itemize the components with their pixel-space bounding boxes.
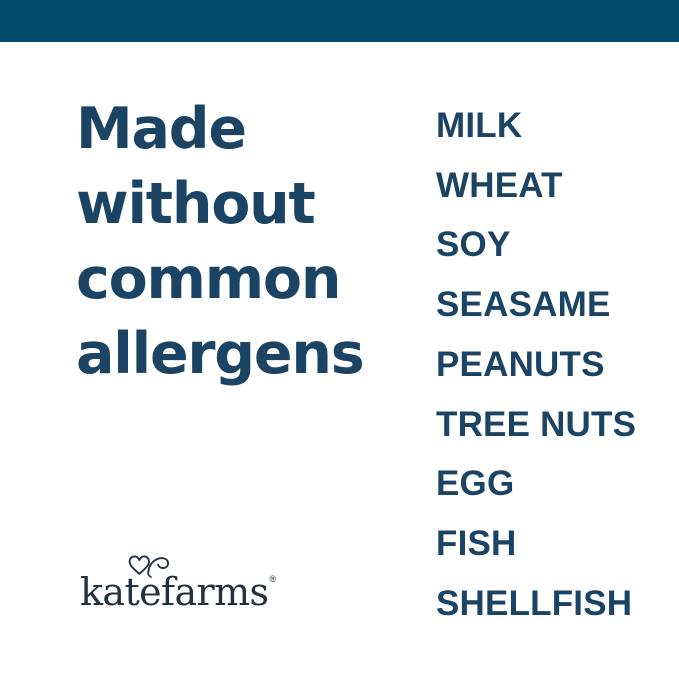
- headline-line-2: without: [76, 167, 406, 242]
- brand-logo: katefarms®: [80, 562, 275, 614]
- headline-line-3: common: [76, 242, 406, 317]
- headline-line-4: allergens: [76, 317, 406, 392]
- top-navy-band: [0, 0, 679, 42]
- page-title: Made without common allergens: [76, 92, 406, 392]
- allergen-item-soy: SOY: [436, 215, 666, 275]
- headline-line-1: Made: [76, 92, 406, 167]
- logo-stack: katefarms®: [80, 570, 275, 614]
- allergen-list: MILK WHEAT SOY SEASAME PEANUTS TREE NUTS…: [436, 96, 666, 633]
- allergen-info-poster: Made without common allergens MILK WHEAT…: [0, 0, 679, 679]
- allergen-item-tree-nuts: TREE NUTS: [436, 395, 666, 455]
- registered-trademark-icon: ®: [269, 574, 276, 584]
- allergen-item-peanuts: PEANUTS: [436, 335, 666, 395]
- allergen-item-seasame: SEASAME: [436, 275, 666, 335]
- logo-wordmark: katefarms: [80, 570, 268, 614]
- allergen-item-fish: FISH: [436, 514, 666, 574]
- allergen-item-wheat: WHEAT: [436, 156, 666, 216]
- allergen-item-shellfish: SHELLFISH: [436, 574, 666, 634]
- allergen-item-egg: EGG: [436, 454, 666, 514]
- allergen-item-milk: MILK: [436, 96, 666, 156]
